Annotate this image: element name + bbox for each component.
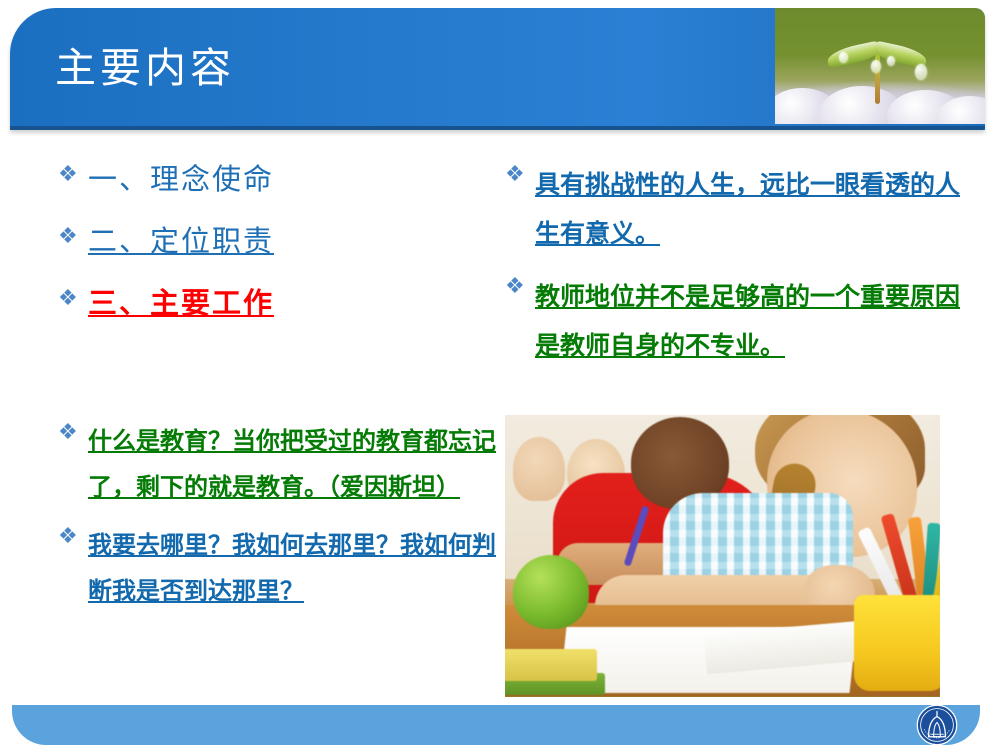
slide-footer-bar	[12, 705, 980, 745]
classroom-photo	[505, 415, 940, 697]
list-item[interactable]: ❖ 一、理念使命	[58, 160, 458, 198]
diamond-bullet-icon: ❖	[505, 272, 535, 302]
water-droplet	[839, 52, 848, 63]
diamond-bullet-icon: ❖	[58, 522, 88, 552]
water-droplet	[915, 64, 927, 80]
quote-column-right: ❖ 具有挑战性的人生，远比一眼看透的人生有意义。 ❖ 教师地位并不是足够高的一个…	[505, 160, 965, 384]
list-item[interactable]: ❖ 具有挑战性的人生，远比一眼看透的人生有意义。	[505, 160, 965, 258]
diamond-bullet-icon: ❖	[58, 418, 88, 448]
agenda-item-label: 二、定位职责	[88, 222, 458, 260]
green-apple	[513, 555, 589, 629]
quote-column-left: ❖ 什么是教育？当你把受过的教育都忘记了，剩下的就是教育。（爱因斯坦） ❖ 我要…	[58, 418, 498, 626]
quote-text: 教师地位并不是足够高的一个重要原因是教师自身的不专业。	[535, 272, 965, 370]
diamond-bullet-icon: ❖	[58, 222, 88, 252]
agenda-item-label: 一、理念使命	[88, 160, 458, 198]
page-title: 主要内容	[55, 42, 235, 94]
list-item[interactable]: ❖ 三、主要工作	[58, 284, 458, 322]
header-underline-rule	[10, 126, 985, 130]
water-droplet	[871, 60, 881, 73]
list-item[interactable]: ❖ 二、定位职责	[58, 222, 458, 260]
list-item[interactable]: ❖ 教师地位并不是足够高的一个重要原因是教师自身的不专业。	[505, 272, 965, 370]
list-item[interactable]: ❖ 我要去哪里？我如何去那里？我如何判断我是否到达那里？	[58, 522, 498, 614]
quote-text: 具有挑战性的人生，远比一眼看透的人生有意义。	[535, 160, 965, 258]
quote-text: 我要去哪里？我如何去那里？我如何判断我是否到达那里？	[88, 522, 498, 614]
book-stack	[505, 649, 597, 681]
agenda-list: ❖ 一、理念使命 ❖ 二、定位职责 ❖ 三、主要工作	[58, 160, 458, 346]
institution-seal-logo	[916, 704, 958, 746]
agenda-item-label-active: 三、主要工作	[88, 284, 458, 322]
pencil-cup	[854, 595, 940, 691]
quote-text: 什么是教育？当你把受过的教育都忘记了，剩下的就是教育。（爱因斯坦）	[88, 418, 498, 510]
water-droplet	[887, 56, 895, 66]
diamond-bullet-icon: ❖	[58, 160, 88, 190]
diamond-bullet-icon: ❖	[58, 284, 88, 314]
sprout-photo	[775, 8, 985, 124]
list-item[interactable]: ❖ 什么是教育？当你把受过的教育都忘记了，剩下的就是教育。（爱因斯坦）	[58, 418, 498, 510]
diamond-bullet-icon: ❖	[505, 160, 535, 190]
background-student	[513, 437, 565, 501]
